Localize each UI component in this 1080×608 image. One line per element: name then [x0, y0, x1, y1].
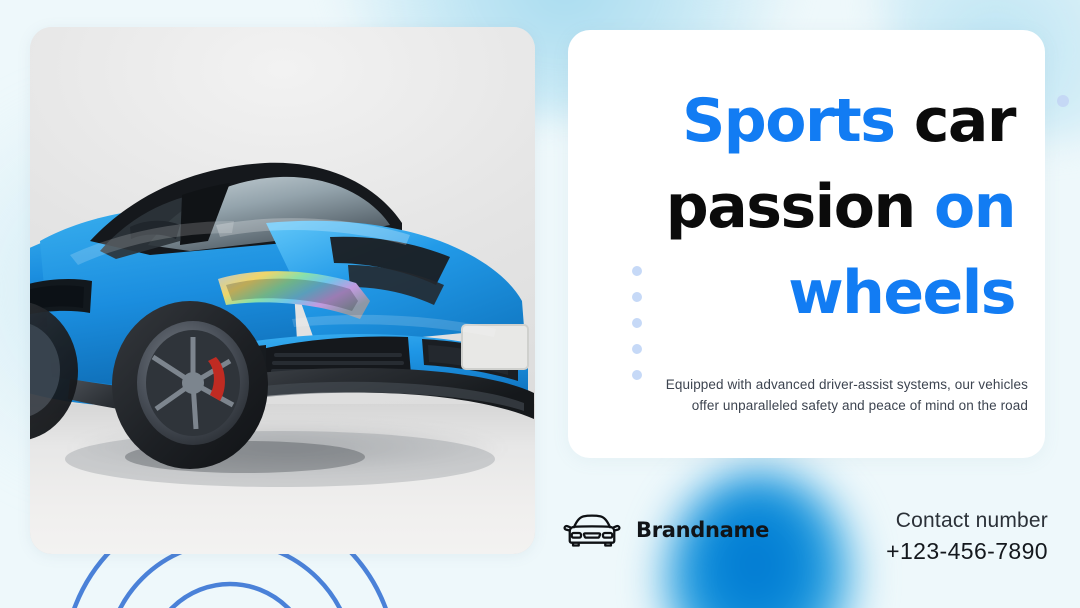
contact-label: Contact number: [886, 506, 1048, 536]
dot-icon-1: [632, 266, 642, 276]
dot-icon-3: [632, 318, 642, 328]
body-paragraph: Equipped with advanced driver-assist sys…: [640, 374, 1028, 416]
poster-canvas: Sports car passion on wheels Equipped wi…: [0, 0, 1080, 608]
page-title: Sports car passion on wheels: [596, 78, 1015, 336]
headline-word-passion: passion: [666, 172, 915, 242]
dot-icon-4: [632, 344, 642, 354]
dot-icon-2: [632, 292, 642, 302]
headline-word-sports: Sports: [682, 86, 894, 156]
car-front-icon: [562, 512, 622, 548]
headline-word-car: car: [894, 86, 1015, 156]
headline-word-on: on: [915, 172, 1015, 242]
car-photo: [30, 27, 535, 554]
floating-dot-icon: [1057, 95, 1069, 107]
headline-word-wheels: wheels: [788, 258, 1015, 328]
car-illustration: [30, 27, 535, 554]
dot-column-decoration: [632, 266, 642, 380]
contact-number[interactable]: +123-456-7890: [886, 536, 1048, 566]
brand-lockup[interactable]: Brandname: [562, 512, 769, 548]
headline-line-2: passion on: [596, 164, 1015, 250]
contact-block: Contact number +123-456-7890: [886, 506, 1048, 566]
headline-line-3: wheels: [596, 250, 1015, 336]
brand-name: Brandname: [636, 518, 769, 542]
headline-line-1: Sports car: [596, 78, 1015, 164]
